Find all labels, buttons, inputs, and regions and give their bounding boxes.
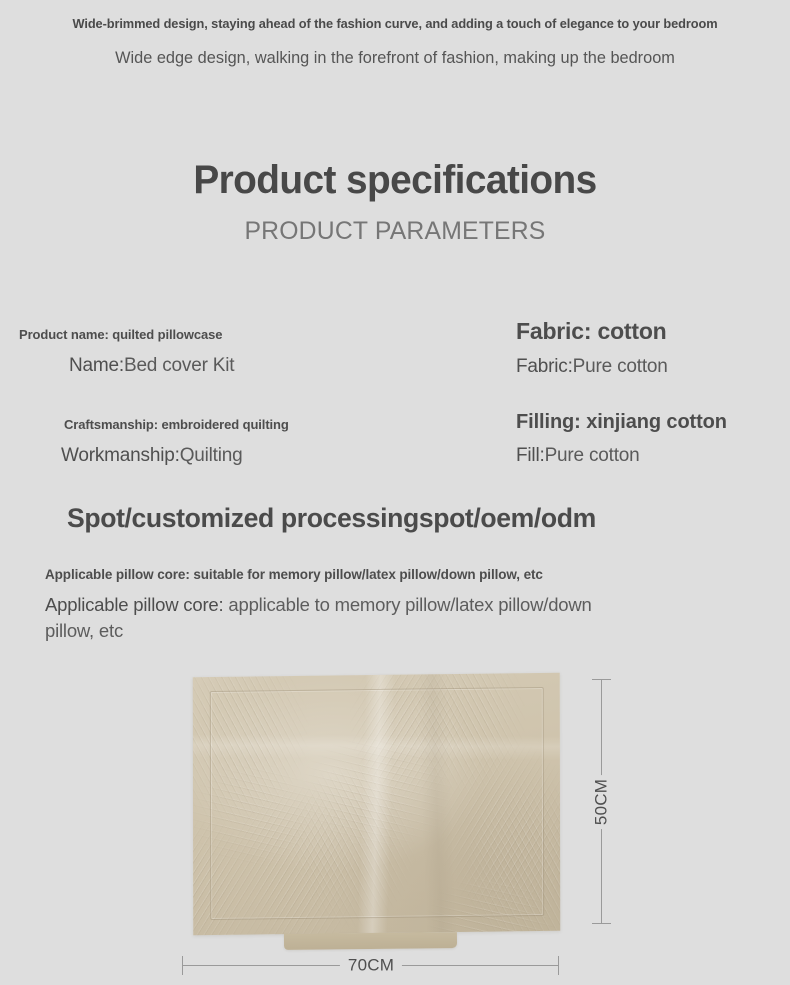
spec-fabric-detail: Fabric:Pure cotton [516, 357, 668, 376]
spec-product-name: Product name: quilted pillowcase Name:Be… [19, 328, 234, 375]
section-heading: Product specifications PRODUCT PARAMETER… [0, 160, 790, 244]
spec-pillow-core-detail: Applicable pillow core: applicable to me… [45, 592, 605, 644]
spec-product-name-bold: Product name: quilted pillowcase [19, 328, 234, 341]
banner-subline: Wide edge design, walking in the forefro… [16, 30, 774, 66]
product-photo [182, 668, 558, 940]
spec-fabric: Fabric: cotton Fabric:Pure cotton [516, 320, 668, 376]
page-title: Product specifications [12, 160, 778, 200]
height-dimension-tick-bottom [592, 923, 611, 924]
spec-pillow-core: Applicable pillow core: suitable for mem… [45, 568, 605, 644]
spec-craftsmanship-value: Quilting [180, 445, 243, 466]
quilt-pattern-layer-a [193, 673, 560, 935]
spec-product-name-value: Bed cover Kit [124, 355, 234, 376]
width-dimension-label: 70CM [340, 954, 402, 977]
top-banner: Wide-brimmed design, staying ahead of th… [0, 0, 790, 66]
height-dimension-label: 50CM [590, 775, 613, 829]
fabric-wrinkle-shading [193, 673, 560, 935]
banner-headline: Wide-brimmed design, staying ahead of th… [6, 0, 784, 30]
spec-craftsmanship-label: Workmanship: [61, 445, 180, 466]
spec-craftsmanship-detail: Workmanship:Quilting [61, 446, 289, 465]
quilted-pillowcase-image [193, 673, 560, 935]
pillowcase-bottom-flap [283, 932, 456, 950]
width-dimension-tick-left [182, 956, 183, 975]
spec-fabric-label: Fabric: [516, 356, 573, 377]
width-dimension-tick-right [558, 956, 559, 975]
quilt-pattern-layer-c [193, 673, 560, 935]
spec-processing: Spot/customized processingspot/oem/odm [67, 505, 596, 532]
product-specification-page: Wide-brimmed design, staying ahead of th… [0, 0, 790, 985]
page-subtitle: PRODUCT PARAMETERS [4, 200, 786, 244]
quilt-pattern-layer-b [193, 673, 560, 935]
spec-filling-detail: Fill:Pure cotton [516, 446, 727, 465]
spec-craftsmanship: Craftsmanship: embroidered quilting Work… [64, 418, 289, 465]
height-dimension-tick-top [592, 679, 611, 680]
spec-pillow-core-bold: Applicable pillow core: suitable for mem… [45, 568, 605, 582]
spec-fabric-value: Pure cotton [573, 356, 668, 377]
spec-craftsmanship-bold: Craftsmanship: embroidered quilting [64, 418, 289, 431]
spec-filling-bold: Filling: xinjiang cotton [516, 412, 727, 432]
spec-filling: Filling: xinjiang cotton Fill:Pure cotto… [516, 412, 727, 465]
spec-product-name-label: Name: [69, 355, 124, 376]
spec-filling-value: Pure cotton [545, 445, 640, 466]
spec-pillow-core-label: Applicable pillow core: [45, 594, 223, 615]
spec-product-name-detail: Name:Bed cover Kit [69, 356, 234, 375]
spec-fabric-bold: Fabric: cotton [516, 320, 668, 343]
spec-filling-label: Fill: [516, 445, 545, 466]
